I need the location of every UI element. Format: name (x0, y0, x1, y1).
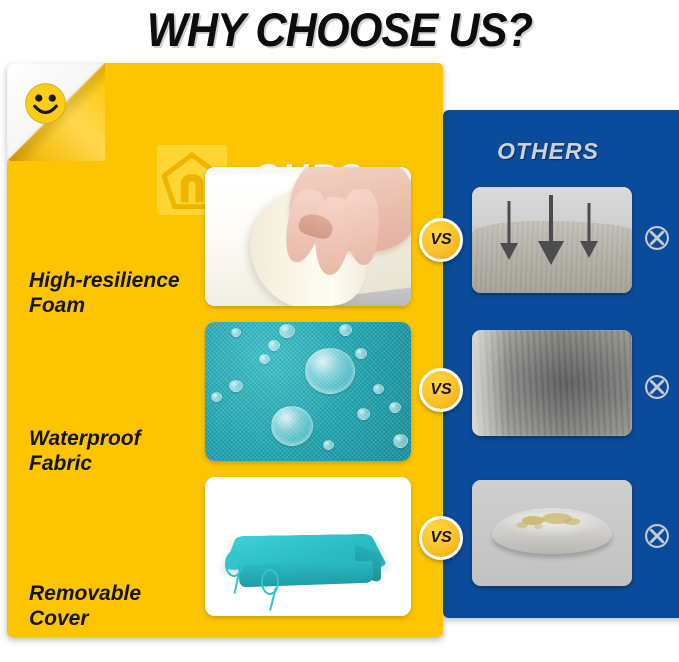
others-heading: OTHERS (443, 138, 653, 165)
feature-label-line1: Removable (29, 582, 141, 605)
feature-label-waterproof-fabric: Waterproof Fabric (29, 426, 209, 476)
foam-scene (205, 167, 411, 306)
stain-mark (516, 522, 528, 528)
circle-x-icon (644, 523, 670, 549)
water-droplet (305, 348, 355, 394)
feature-label-line1: Waterproof (29, 427, 141, 450)
water-droplet (259, 354, 270, 364)
feature-label-removable-cover: Removable Cover (29, 581, 209, 631)
water-droplet (323, 440, 334, 450)
vs-badge: VS (419, 516, 463, 560)
page-title: WHY CHOOSE US? (27, 2, 652, 57)
water-droplet (229, 380, 243, 392)
water-droplet (393, 434, 408, 448)
vs-badge: VS (419, 218, 463, 262)
gray-stained-fabric-texture (472, 330, 632, 436)
others-image-stained-cushion (472, 480, 632, 586)
water-droplet (268, 340, 280, 351)
water-droplet (271, 406, 313, 446)
poster-stage: WHY CHOOSE US? OTHERS (0, 0, 679, 662)
smiley-face-icon (23, 81, 68, 126)
cushion-scene (205, 477, 411, 616)
cushion-tie-loop (261, 569, 279, 595)
feature-label-line2: Fabric (29, 452, 92, 475)
water-droplet (357, 408, 370, 420)
stain-mark (534, 524, 543, 529)
water-droplet (389, 402, 401, 413)
water-droplet (339, 324, 352, 336)
circle-x-icon (644, 374, 670, 400)
ours-image-waterproof-fabric (205, 322, 411, 461)
water-droplet (373, 384, 384, 394)
feature-label-line1: High-resilience (29, 269, 180, 292)
circle-x-icon (644, 225, 670, 251)
down-arrow-icon (500, 201, 518, 261)
water-droplet (231, 328, 241, 337)
others-image-wet-fabric (472, 330, 632, 436)
feature-label-line2: Cover (29, 607, 89, 630)
others-image-compressed-foam (472, 187, 632, 293)
water-droplet (355, 348, 367, 359)
ours-image-foam (205, 167, 411, 306)
feature-label-high-resilience-foam: High-resilience Foam (29, 268, 209, 318)
feature-label-line2: Foam (29, 294, 85, 317)
down-arrow-icon (538, 195, 564, 267)
down-arrow-icon (580, 203, 598, 261)
stain-mark (564, 518, 580, 525)
vs-badge: VS (419, 368, 463, 412)
water-droplet (211, 392, 222, 402)
cushion-front-face (239, 561, 374, 588)
ours-image-removable-cover (205, 477, 411, 616)
water-droplet (279, 324, 295, 338)
cushion-tie-loop (225, 551, 243, 577)
